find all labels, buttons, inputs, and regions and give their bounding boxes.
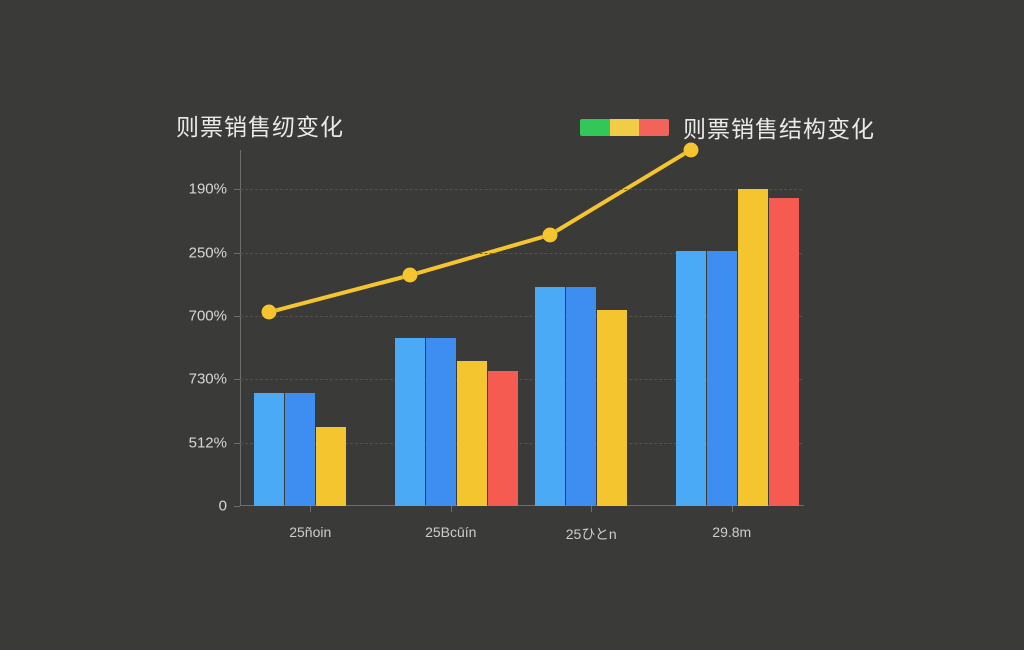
bar-blue-light-2 — [535, 287, 565, 506]
x-axis-label: 25ñoin — [289, 524, 331, 540]
plot-area: 0512%730%700%250%190%25ñoin25Bcūín25ひとn2… — [240, 150, 802, 506]
bar-red-3 — [769, 198, 799, 506]
legend-swatch-segment-1 — [610, 119, 640, 136]
legend-swatch-segment-0 — [580, 119, 610, 136]
x-axis-tick — [591, 506, 592, 512]
legend: 则票销售结构变化 — [580, 110, 875, 144]
bar-blue-dark-2 — [566, 287, 596, 506]
bar-blue-light-1 — [395, 338, 425, 506]
legend-swatch — [580, 119, 669, 136]
page-title: 则票销售纫变化 — [176, 108, 344, 142]
bar-blue-light-3 — [676, 251, 706, 506]
chart-canvas: 则票销售纫变化 则票销售结构变化 0512%730%700%250%190%25… — [0, 0, 1024, 650]
y-axis-label: 0 — [219, 498, 227, 515]
y-axis-tick — [234, 189, 240, 190]
y-axis-tick — [234, 316, 240, 317]
bar-blue-dark-0 — [285, 393, 315, 506]
bar-yellow-1 — [457, 361, 487, 506]
bar-yellow-2 — [597, 310, 627, 506]
gridline — [240, 189, 802, 190]
x-axis-label: 25ひとn — [566, 524, 617, 544]
bar-blue-light-0 — [254, 393, 284, 506]
bar-blue-dark-1 — [426, 338, 456, 506]
legend-swatch-segment-2 — [639, 119, 669, 136]
y-axis-tick — [234, 379, 240, 380]
y-axis-tick — [234, 443, 240, 444]
legend-label: 则票销售结构变化 — [683, 110, 875, 144]
y-axis-label: 250% — [189, 244, 227, 261]
x-axis-label: 25Bcūín — [425, 524, 476, 540]
x-axis-tick — [310, 506, 311, 512]
bar-yellow-3 — [738, 189, 768, 506]
x-axis-tick — [732, 506, 733, 512]
bar-yellow-0 — [316, 427, 346, 506]
line-point-0 — [262, 305, 277, 320]
y-axis-label: 190% — [189, 181, 227, 198]
y-axis-tick — [234, 253, 240, 254]
bar-red-1 — [488, 371, 518, 506]
y-axis-label: 512% — [189, 434, 227, 451]
y-axis-label: 700% — [189, 307, 227, 324]
line-point-3 — [683, 143, 698, 158]
x-axis-tick — [451, 506, 452, 512]
y-axis-label: 730% — [189, 371, 227, 388]
y-axis-tick — [234, 506, 240, 507]
line-point-2 — [543, 227, 558, 242]
line-point-1 — [402, 268, 417, 283]
bar-blue-dark-3 — [707, 251, 737, 506]
x-axis-label: 29.8m — [712, 524, 751, 540]
